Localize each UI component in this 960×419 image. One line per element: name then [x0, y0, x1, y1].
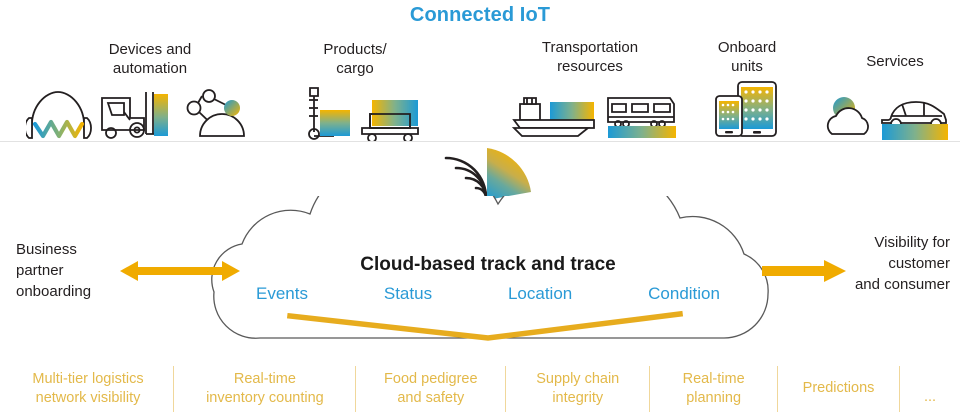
page-title: Connected IoT [0, 4, 960, 27]
cloud-tag-status[interactable]: Status [384, 284, 432, 304]
cloud-underline-v [168, 310, 808, 350]
category-label-onboard: Onboard units [692, 38, 802, 76]
icon-group-devices [26, 86, 256, 142]
cloud-tag-location[interactable]: Location [508, 284, 572, 304]
benefit-separator [649, 366, 650, 412]
benefit-separator [505, 366, 506, 412]
train-bar [608, 126, 676, 138]
icon-group-products [300, 84, 430, 142]
icon-group-services [820, 90, 950, 142]
tablet-phone-icon [716, 82, 776, 136]
cloud-tag-list: Events Status Location Condition [256, 284, 720, 304]
benefit-label: Real-time inventory counting [206, 371, 324, 406]
cloud-tag-events[interactable]: Events [256, 284, 308, 304]
benefit-label: Supply chain integrity [536, 371, 619, 406]
bar-chart-icon [154, 94, 168, 136]
left-caption-text: Business partner onboarding [16, 241, 91, 300]
icon-group-transportation [508, 84, 678, 142]
right-caption-text: Visibility for customer and consumer [855, 234, 950, 293]
benefit-label: Food pedigree and safety [384, 371, 478, 406]
headphones-wave-line [35, 122, 82, 136]
benefit-item[interactable]: Real-time inventory counting [186, 370, 344, 408]
right-caption: Visibility for customer and consumer [810, 232, 950, 295]
category-label-line: Devices and automation [60, 40, 240, 78]
left-caption: Business partner onboarding [16, 239, 126, 302]
category-label-line: Transportation resources [500, 38, 680, 76]
category-label-line: Onboard units [692, 38, 802, 76]
category-label-line: Products/ cargo [285, 40, 425, 78]
cloud-tag-condition[interactable]: Condition [648, 284, 720, 304]
diagram-canvas: Connected IoT Devices and automation Pro… [0, 0, 960, 419]
benefit-item[interactable]: Multi-tier logistics network visibility [14, 370, 162, 408]
benefit-separator [355, 366, 356, 412]
benefit-label: ... [924, 389, 936, 405]
benefit-label: Real-time planning [683, 371, 745, 406]
benefit-separator [173, 366, 174, 412]
robot-sphere-icon [224, 100, 240, 116]
section-divider [0, 141, 960, 142]
category-label-services: Services [830, 52, 960, 71]
category-label-transportation: Transportation resources [500, 38, 680, 76]
benefit-item[interactable]: Predictions [790, 379, 888, 398]
benefits-strip: Multi-tier logistics network visibility … [0, 358, 960, 419]
category-label-devices: Devices and automation [60, 40, 240, 78]
benefit-item-more[interactable]: ... [900, 370, 960, 407]
category-label-products: Products/ cargo [285, 40, 425, 78]
cargo-cart-box [372, 100, 418, 126]
category-label-line: Services [830, 52, 960, 71]
ship-containers [550, 102, 594, 120]
hand-truck-box [320, 110, 350, 136]
icon-group-onboard [712, 80, 782, 142]
train-icon [608, 98, 674, 127]
double-arrow-horizontal-icon [120, 258, 240, 284]
benefit-item[interactable]: Food pedigree and safety [368, 370, 494, 408]
wifi-fan [487, 148, 531, 200]
car-bar [882, 124, 948, 140]
benefit-label: Multi-tier logistics network visibility [32, 371, 143, 406]
benefit-label: Predictions [803, 380, 875, 396]
benefit-item[interactable]: Supply chain integrity [518, 370, 638, 408]
benefit-item[interactable]: Real-time planning [662, 370, 766, 408]
cloud-title: Cloud-based track and trace [168, 254, 808, 276]
cloud-panel: Cloud-based track and trace Events Statu… [168, 196, 808, 356]
benefit-separator [777, 366, 778, 412]
